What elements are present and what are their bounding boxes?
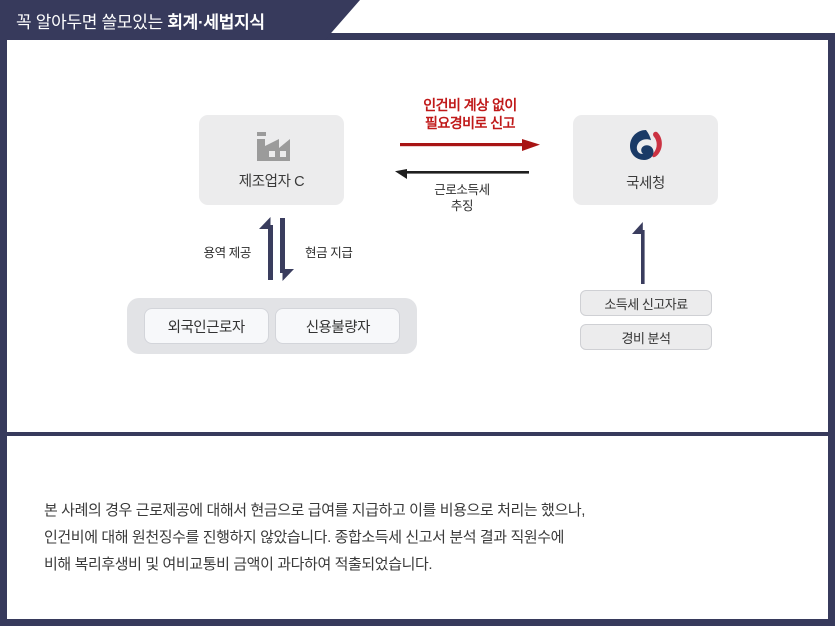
worker-chip-foreign[interactable]: 외국인근로자: [144, 308, 269, 344]
dark-flow-group: 근로소득세 추징: [369, 168, 555, 214]
worker-chip-credit-delinquent[interactable]: 신용불량자: [275, 308, 400, 344]
diagram-panel: 제조업자 C 국세청 인건비 계상 없이 필요경비로 신고: [7, 40, 828, 436]
nts-chip-income-tax-filing[interactable]: 소득세 신고자료: [580, 290, 712, 316]
manufacturer-label: 제조업자 C: [239, 170, 304, 191]
red-flow-group: 인건비 계상 없이 필요경비로 신고: [377, 96, 563, 152]
nts-chip-expense-analysis-label: 경비 분석: [622, 328, 671, 347]
worker-chip-credit-delinquent-label: 신용불량자: [306, 316, 370, 337]
vertical-flow-left-label: 용역 제공: [177, 242, 251, 261]
nts-up-arrow-icon: [625, 222, 663, 284]
dark-flow-label: 근로소득세 추징: [369, 182, 555, 214]
page-title-light: 꼭 알아두면 쓸모있는: [16, 13, 167, 32]
red-flow-label: 인건비 계상 없이 필요경비로 신고: [377, 96, 563, 132]
red-arrow-right-icon: [400, 138, 540, 152]
vertical-flow-group: 용역 제공 현금 지급: [177, 217, 377, 287]
page-title: 꼭 알아두면 쓸모있는 회계·세법지식: [16, 8, 265, 33]
worker-chip-foreign-label: 외국인근로자: [168, 316, 245, 337]
taegeuk-logo-icon: [626, 128, 666, 164]
page-title-strong: 회계·세법지식: [167, 13, 264, 32]
nts-chip-income-tax-filing-label: 소득세 신고자료: [604, 294, 687, 313]
nts-card[interactable]: 국세청: [573, 115, 718, 205]
nts-chip-expense-analysis[interactable]: 경비 분석: [580, 324, 712, 350]
dark-arrow-left-icon: [395, 168, 529, 180]
workers-group: 외국인근로자 신용불량자: [127, 298, 417, 354]
vertical-двух-arrows-icon: [255, 217, 299, 281]
manufacturer-card[interactable]: 제조업자 C: [199, 115, 344, 205]
factory-icon: [252, 130, 292, 162]
description-text: 본 사례의 경우 근로제공에 대해서 현금으로 급여를 지급하고 이를 비용으로…: [44, 497, 784, 578]
description-panel: 본 사례의 경우 근로제공에 대해서 현금으로 급여를 지급하고 이를 비용으로…: [7, 440, 828, 619]
content-frame: 제조업자 C 국세청 인건비 계상 없이 필요경비로 신고: [0, 33, 835, 626]
vertical-flow-right-label: 현금 지급: [305, 242, 381, 261]
nts-label: 국세청: [626, 172, 665, 193]
nts-data-chips: 소득세 신고자료 경비 분석: [580, 290, 712, 350]
